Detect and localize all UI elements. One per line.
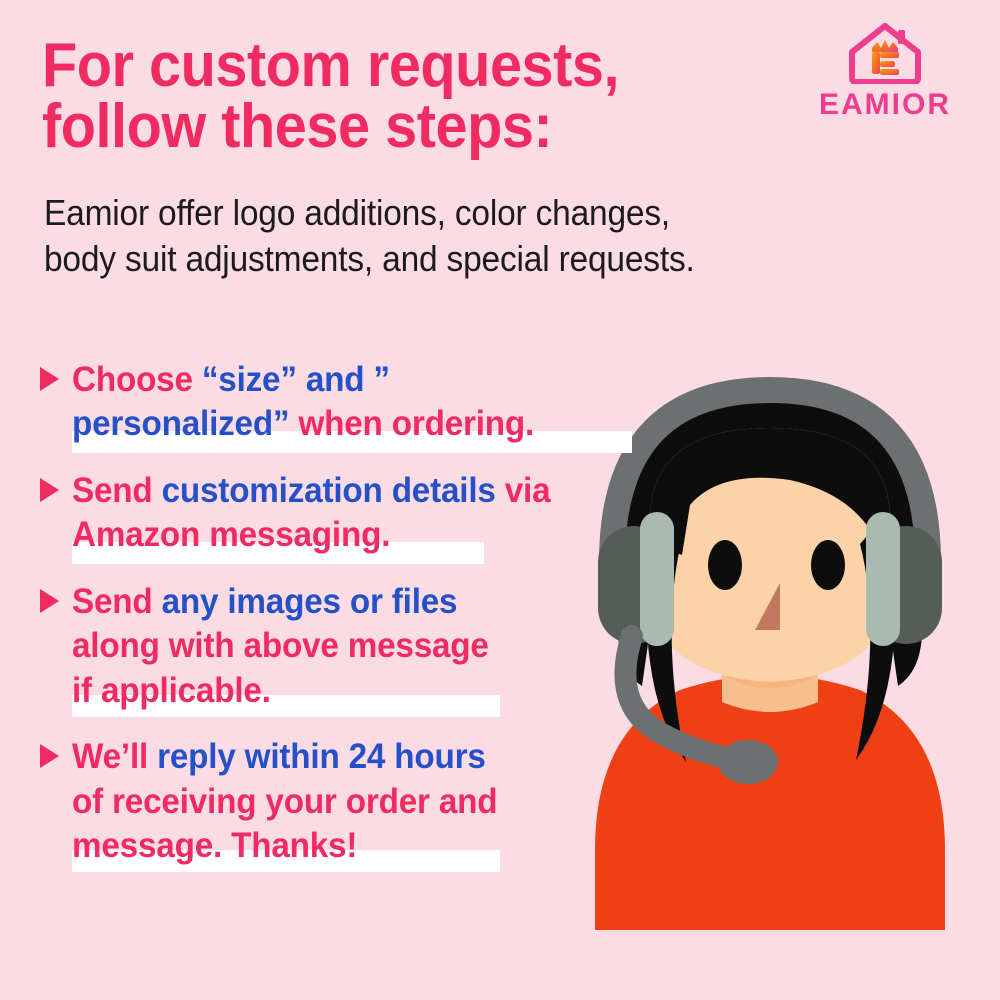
step-text: Choose “size” and ”personalized” when or…	[72, 358, 627, 447]
step-text-segment: any images or files	[162, 582, 458, 621]
headset-mic-tip	[718, 740, 778, 784]
poster-canvas: EAMIOR For custom requests, follow these…	[0, 0, 1000, 1000]
step-text: Send any images or filesalong with above…	[72, 580, 627, 713]
eye-right	[811, 540, 845, 590]
step-item: We’ll reply within 24 hoursof receiving …	[36, 735, 656, 868]
step-text-segment: personalized”	[72, 404, 298, 443]
step-text: We’ll reply within 24 hoursof receiving …	[72, 735, 627, 868]
triangle-bullet-icon	[40, 744, 59, 768]
headset-pad-left	[640, 512, 674, 646]
step-item: Send customization details viaAmazon mes…	[36, 469, 656, 558]
step-text-segment: Choose	[72, 360, 202, 399]
step-text-segment: customization details	[162, 471, 505, 510]
step-item: Choose “size” and ”personalized” when or…	[36, 358, 656, 447]
step-text-segment: Send	[72, 471, 162, 510]
triangle-bullet-icon	[40, 478, 59, 502]
step-text-segment: Amazon messaging.	[72, 515, 390, 554]
step-text-segment: if applicable.	[72, 671, 271, 710]
step-text-segment: along with above message	[72, 626, 489, 665]
step-text-segment: Send	[72, 582, 162, 621]
eye-left	[708, 540, 742, 590]
page-title: For custom requests, follow these steps:	[42, 36, 730, 158]
step-text-segment: when ordering.	[298, 404, 534, 443]
house-with-crowned-e-logo-icon	[848, 22, 922, 84]
headset-pad-right	[866, 512, 900, 646]
triangle-bullet-icon	[40, 367, 59, 391]
step-text-segment: of receiving your order and	[72, 782, 497, 821]
page-subtitle: Eamior offer logo additions, color chang…	[44, 190, 788, 282]
triangle-bullet-icon	[40, 589, 59, 613]
step-text-segment: via	[505, 471, 551, 510]
step-text: Send customization details viaAmazon mes…	[72, 469, 627, 558]
step-text-segment: “size” and ”	[202, 360, 390, 399]
step-text-segment: We’ll	[72, 737, 157, 776]
step-text-segment: message. Thanks!	[72, 826, 357, 865]
steps-list: Choose “size” and ”personalized” when or…	[36, 358, 656, 890]
step-text-segment: reply within 24 hours	[157, 737, 486, 776]
eamior-logo: EAMIOR	[800, 22, 970, 122]
step-item: Send any images or filesalong with above…	[36, 580, 656, 713]
logo-wordmark: EAMIOR	[800, 90, 970, 120]
